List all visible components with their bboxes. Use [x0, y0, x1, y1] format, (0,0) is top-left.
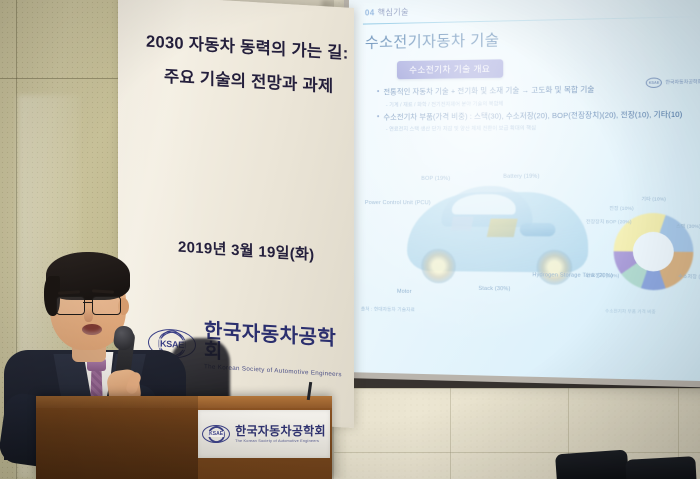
donut-label-etc: 기타 (10%)	[641, 196, 666, 202]
bullet-text: 전통적인 자동차 기술 + 전기화 및 소재 기술 → 고도화 및 복합 기술	[383, 85, 594, 98]
slide-section-kicker: 04핵심기술	[365, 6, 409, 18]
diagram-label-stack: Stack (30%)	[478, 286, 510, 294]
hydrogen-tank-shape	[520, 223, 556, 237]
bullet-item: • 수소전기차 부품(가격 비중) : 스택(30), 수소저장(20), BO…	[377, 109, 690, 133]
diagram-footnote: 출처 : 현대자동차 기술자료	[361, 306, 415, 313]
bullet-dot-icon: •	[377, 88, 379, 99]
slide-title: 수소전기자동차 기술	[365, 29, 500, 53]
banner-title-line1: 2030 자동차 동력의 가는 길:	[146, 28, 349, 64]
bullet-text: 수소전기차 부품(가격 비중) : 스택(30), 수소저장(20), BOP(…	[383, 109, 682, 123]
slide-bullet-list: • 전통적인 자동차 기술 + 전기화 및 소재 기술 → 고도화 및 복합 기…	[377, 83, 690, 132]
cost-share-donut-chart: 기타 (10%) 전장 (10%) 전장장치 BOP (20%) 스택 (30%…	[586, 178, 700, 327]
donut-label-stack: 스택 (30%)	[676, 224, 700, 230]
wall-seam	[450, 388, 451, 479]
podium-org-name-ko: 한국자동차공학회	[235, 425, 326, 437]
audience-chair	[625, 456, 696, 479]
diagram-label-pcu: Power Control Unit (PCU)	[365, 200, 431, 207]
banner-date: 2019년 3월 19일(화)	[178, 236, 314, 265]
donut-label-bop: 전장장치 BOP (20%)	[586, 219, 632, 225]
projection-screen: 04핵심기술 수소전기자동차 기술 수소전기차 기술 개요 KSAE 한국자동차…	[349, 0, 700, 381]
bullet-subtext: - 기계 / 재료 / 화학 / 전기전자제어 분야 기술의 복합체	[386, 97, 690, 108]
wooden-podium: KSAE 한국자동차공학회 The Korean Society of Auto…	[36, 396, 332, 479]
projection-screen-frame: 04핵심기술 수소전기자동차 기술 수소전기차 기술 개요 KSAE 한국자동차…	[344, 0, 700, 388]
audience-chair	[555, 450, 629, 479]
podium-org-name-en: The Korean Society of Automotive Enginee…	[235, 439, 326, 443]
speaker-nose	[84, 308, 93, 322]
ksae-emblem-icon: KSAE	[202, 425, 230, 443]
fuel-cell-vehicle-diagram: Power Control Unit (PCU) BOP (19%) Batte…	[359, 159, 617, 330]
bullet-dot-icon: •	[377, 112, 379, 123]
glasses-lens-right	[92, 296, 121, 315]
car-wheel-rear	[421, 249, 456, 284]
speaker-mouth-speaking	[82, 324, 102, 335]
conference-photo: 04핵심기술 수소전기자동차 기술 수소전기차 기술 개요 KSAE 한국자동차…	[0, 0, 700, 479]
donut-caption: 수소전기차 부품 가격 비중	[605, 308, 656, 315]
diagram-label-bop: BOP (19%)	[421, 176, 450, 183]
banner-title-line2: 주요 기술의 전망과 과제	[164, 63, 333, 97]
glasses-lens-left	[56, 296, 85, 315]
presentation-slide: 04핵심기술 수소전기자동차 기술 수소전기차 기술 개요 KSAE 한국자동차…	[349, 0, 700, 381]
pcu-component-shape	[451, 216, 474, 230]
wall-seam	[330, 388, 700, 389]
donut-center-hole	[633, 232, 674, 272]
podium-org-text: 한국자동차공학회 The Korean Society of Automotiv…	[235, 425, 326, 443]
ksae-mark-text: KSAE	[208, 431, 224, 437]
bullet-item: • 전통적인 자동차 기술 + 전기화 및 소재 기술 → 고도화 및 복합 기…	[377, 83, 690, 108]
donut-label-electric: 전장 (10%)	[609, 206, 633, 212]
wall-seam	[0, 78, 122, 79]
glasses-bridge	[83, 302, 92, 303]
slide-section-label: 핵심기술	[378, 7, 409, 17]
podium-org-plate: KSAE 한국자동차공학회 The Korean Society of Auto…	[198, 410, 330, 458]
slide-subsection-badge: 수소전기차 기술 개요	[397, 59, 503, 79]
bullet-subtext: - 연료전지 스택 생산 단가 저감 및 양산 체제 전환이 보급 확대의 핵심	[386, 123, 690, 133]
slide-divider	[363, 16, 699, 24]
donut-label-hydrogen-storage: 수소저장 (20%)	[678, 274, 700, 281]
podium-shadow	[36, 396, 198, 479]
slide-section-number: 04	[365, 8, 375, 17]
stack-component-shape	[487, 219, 518, 238]
wall-seam	[330, 452, 700, 453]
diagram-label-motor: Motor	[397, 289, 412, 297]
car-window-shape	[452, 194, 516, 215]
diagram-label-battery: Battery (19%)	[503, 174, 539, 182]
donut-label-fuelcell: 연료전지 (10%)	[586, 273, 619, 280]
